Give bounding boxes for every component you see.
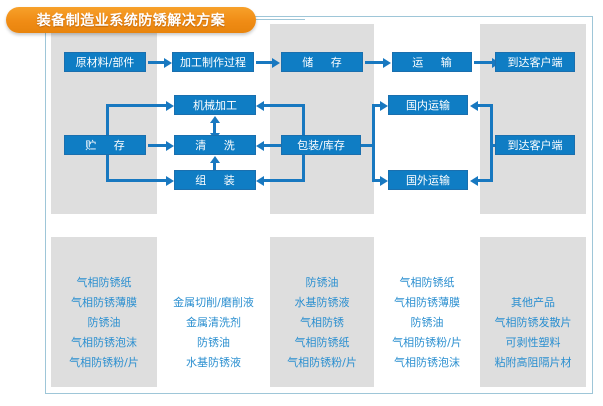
flow-box-transport[interactable]: 运 输 (392, 52, 472, 72)
product-item: 金属清洗剂 (186, 313, 241, 333)
product-item: 可剥性塑料 (506, 333, 561, 353)
flow-box-raw-material[interactable]: 原材料/部件 (64, 52, 146, 72)
product-item: 水基防锈液 (186, 353, 241, 373)
title-rule (250, 19, 305, 20)
flow-box-depot[interactable]: 贮 存 (64, 135, 146, 155)
arrow-machining-washing-bidirectional (213, 122, 216, 134)
product-item: 气相防锈纸 (295, 333, 350, 353)
arrow-process-to-storage (256, 61, 273, 64)
product-item: 防锈油 (306, 273, 339, 293)
arrow-transport-to-customer (474, 61, 493, 64)
product-item: 其他产品 (511, 293, 555, 313)
product-column-3: 防锈油水基防锈液气相防锈气相防锈纸气相防锈粉/片 (270, 237, 374, 387)
flow-box-storage[interactable]: 储 存 (281, 52, 363, 72)
product-item: 气相防锈粉/片 (392, 333, 462, 353)
flow-box-washing[interactable]: 清 洗 (174, 135, 256, 155)
arrow-depot-to-assembly (106, 179, 167, 182)
product-item: 气相防锈薄膜 (71, 293, 137, 313)
product-item: 气相防锈 (300, 313, 344, 333)
product-item: 气相防锈发散片 (495, 313, 572, 333)
product-item: 金属切削/磨削液 (173, 293, 254, 313)
flow-box-arrive-customer-top[interactable]: 到达客户端 (495, 52, 575, 72)
connector-packing-to-transport-tap (361, 144, 375, 147)
arrow-packing-to-assembly (263, 179, 305, 182)
flow-box-domestic-transport[interactable]: 国内运输 (388, 95, 468, 115)
product-item: 气相防锈薄膜 (394, 293, 460, 313)
arrow-raw-to-process (148, 61, 165, 64)
diagram-canvas: 装备制造业系统防锈解决方案 原材料/部件 加工制作过程 储 存 运 输 到达客户… (0, 0, 603, 406)
arrow-packing-to-washing (263, 144, 281, 147)
arrow-to-overseas-transport (372, 179, 381, 182)
arrow-customer-to-overseas (477, 179, 493, 182)
product-item: 防锈油 (411, 313, 444, 333)
product-item: 防锈油 (197, 333, 230, 353)
flow-box-overseas-transport[interactable]: 国外运输 (388, 170, 468, 190)
flow-box-packing-inventory[interactable]: 包装/库存 (281, 135, 361, 155)
product-item: 气相防锈粉/片 (287, 353, 357, 373)
page-title: 装备制造业系统防锈解决方案 (6, 7, 256, 33)
product-column-5: 其他产品气相防锈发散片可剥性塑料粘附高阻隔片材 (480, 237, 586, 387)
arrow-packing-to-machining (263, 104, 305, 107)
arrow-customer-to-domestic (477, 104, 493, 107)
flow-box-assembly[interactable]: 组 装 (174, 170, 256, 190)
connector-packing-to-transport-trunk (372, 104, 375, 182)
product-item: 气相防锈纸 (77, 273, 132, 293)
product-item: 气相防锈纸 (400, 273, 455, 293)
product-item: 气相防锈泡沫 (394, 353, 460, 373)
arrow-storage-to-transport (365, 61, 384, 64)
arrow-depot-to-machining (106, 104, 167, 107)
arrow-to-domestic-transport (372, 104, 381, 107)
page-title-label: 装备制造业系统防锈解决方案 (37, 10, 226, 30)
flow-box-machining[interactable]: 机械加工 (174, 95, 256, 115)
product-column-1: 气相防锈纸气相防锈薄膜防锈油气相防锈泡沫气相防锈粉/片 (51, 237, 157, 387)
product-column-2: 金属切削/磨削液金属清洗剂防锈油水基防锈液 (157, 237, 270, 387)
arrow-depot-to-washing (148, 144, 167, 147)
product-item: 防锈油 (88, 313, 121, 333)
product-item: 气相防锈粉/片 (69, 353, 139, 373)
connector-customer-trunk (490, 104, 493, 182)
product-item: 粘附高阻隔片材 (495, 353, 572, 373)
product-item: 气相防锈泡沫 (71, 333, 137, 353)
product-item: 水基防锈液 (295, 293, 350, 313)
product-column-4: 气相防锈纸气相防锈薄膜防锈油气相防锈粉/片气相防锈泡沫 (374, 237, 480, 387)
flow-box-processing[interactable]: 加工制作过程 (172, 52, 254, 72)
flow-box-arrive-customer-mid[interactable]: 到达客户端 (495, 135, 575, 155)
